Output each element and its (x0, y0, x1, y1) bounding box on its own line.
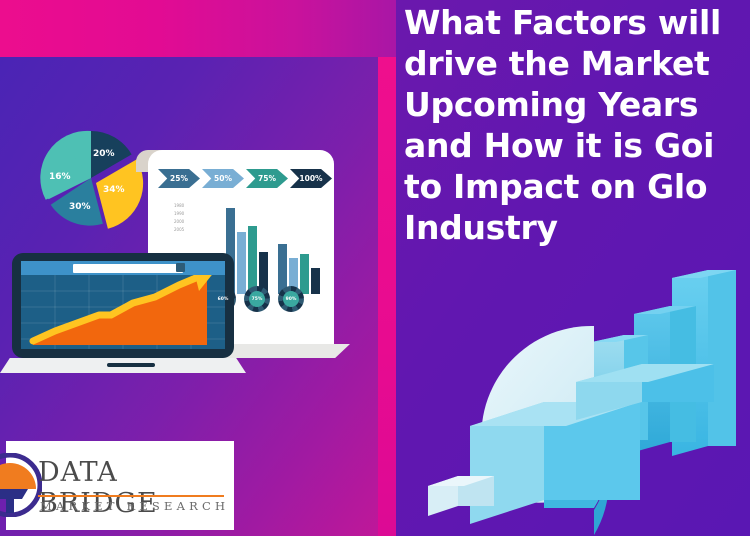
bar-3d-tall-front (708, 270, 736, 446)
headline-line-3: Upcoming Years (404, 84, 750, 125)
logo-secondary-text: MARKET RESEARCH (40, 499, 229, 513)
pie-label-30: 30% (69, 202, 91, 212)
headline-line-6: Industry (404, 207, 750, 248)
gauge-1-label: 60% (218, 297, 229, 302)
headline-line-1: What Factors will (404, 2, 750, 43)
arrow-banner-25-label: 25% (170, 174, 188, 183)
bar-g1-c (248, 226, 257, 294)
laptop-trackpad-notch (107, 363, 155, 367)
arrow-banner-50-label: 50% (214, 174, 232, 183)
background-top-magenta-band (0, 0, 396, 57)
arrow-banner-100: 100% (290, 169, 332, 188)
laptop-body (12, 253, 234, 358)
arrow-banner-75-label: 75% (258, 174, 276, 183)
pie-label-16: 16% (49, 172, 71, 182)
three-d-chart-svg (424, 250, 750, 536)
gauge-2: 75% (244, 286, 270, 312)
laptop-browser-bar (21, 261, 225, 275)
gauge-3-label: 90% (286, 297, 297, 302)
arrow-banner-25: 25% (158, 169, 200, 188)
arrow-banner-50: 50% (202, 169, 244, 188)
headline-line-5: to Impact on Glo (404, 166, 750, 207)
headline-line-2: drive the Market (404, 43, 750, 84)
pie-label-20: 20% (93, 149, 115, 159)
year-label-2: 1990 (174, 210, 184, 218)
laptop-illustration (12, 253, 234, 373)
poster-canvas: What Factors will drive the Market Upcom… (0, 0, 750, 536)
gauge-3: 90% (278, 286, 304, 312)
gauge-2-label: 75% (252, 297, 263, 302)
logo-plate: DATA BRIDGE MARKET RESEARCH (6, 441, 234, 530)
search-input[interactable] (73, 264, 183, 273)
year-label-3: 2000 (174, 218, 184, 226)
arrow-banner-row: 25% 50% 75% 100% (158, 169, 332, 188)
logo-divider-rule (38, 495, 224, 497)
year-label-4: 2005 (174, 226, 184, 234)
pie-chart: 20% 34% 30% 16% (36, 125, 146, 235)
arrow-banner-75: 75% (246, 169, 288, 188)
bar-chart-year-axis: 1980 1990 2000 2005 (174, 202, 184, 234)
databridge-logo-mark (0, 453, 42, 517)
year-label-1: 1980 (174, 202, 184, 210)
three-d-chart-illustration (424, 250, 750, 536)
headline-text: What Factors will drive the Market Upcom… (404, 2, 750, 248)
search-icon[interactable] (176, 263, 185, 272)
pie-label-34: 34% (103, 185, 125, 195)
laptop-screen (21, 261, 225, 349)
bar-g1-b (237, 232, 246, 294)
arrow-banner-100-label: 100% (299, 174, 322, 183)
background-pink-divider-strip (378, 57, 396, 536)
bar-g2-d (311, 268, 320, 294)
bar-chart (226, 208, 324, 294)
headline-line-4: and How it is Goi (404, 125, 750, 166)
